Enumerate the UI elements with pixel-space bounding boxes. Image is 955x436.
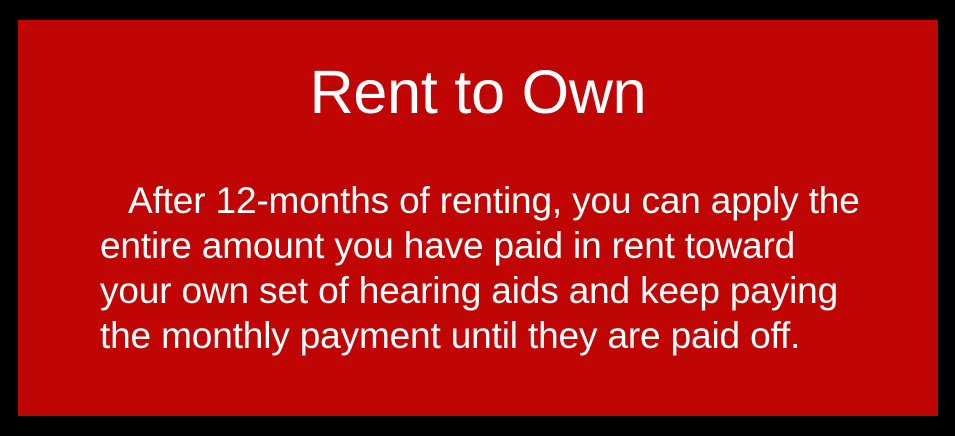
slide-root: Rent to Own After 12-months of renting, … (0, 0, 955, 436)
body-line-2: entire amount you have paid in rent towa… (100, 223, 928, 268)
body-paragraph: After 12-months of renting, you can appl… (100, 178, 928, 358)
content-panel: Rent to Own After 12-months of renting, … (18, 20, 938, 416)
body-line-1: After 12-months of renting, you can appl… (100, 178, 928, 223)
body-line-4: the monthly payment until they are paid … (100, 313, 928, 358)
page-title: Rent to Own (18, 58, 938, 126)
body-line-3: your own set of hearing aids and keep pa… (100, 268, 928, 313)
